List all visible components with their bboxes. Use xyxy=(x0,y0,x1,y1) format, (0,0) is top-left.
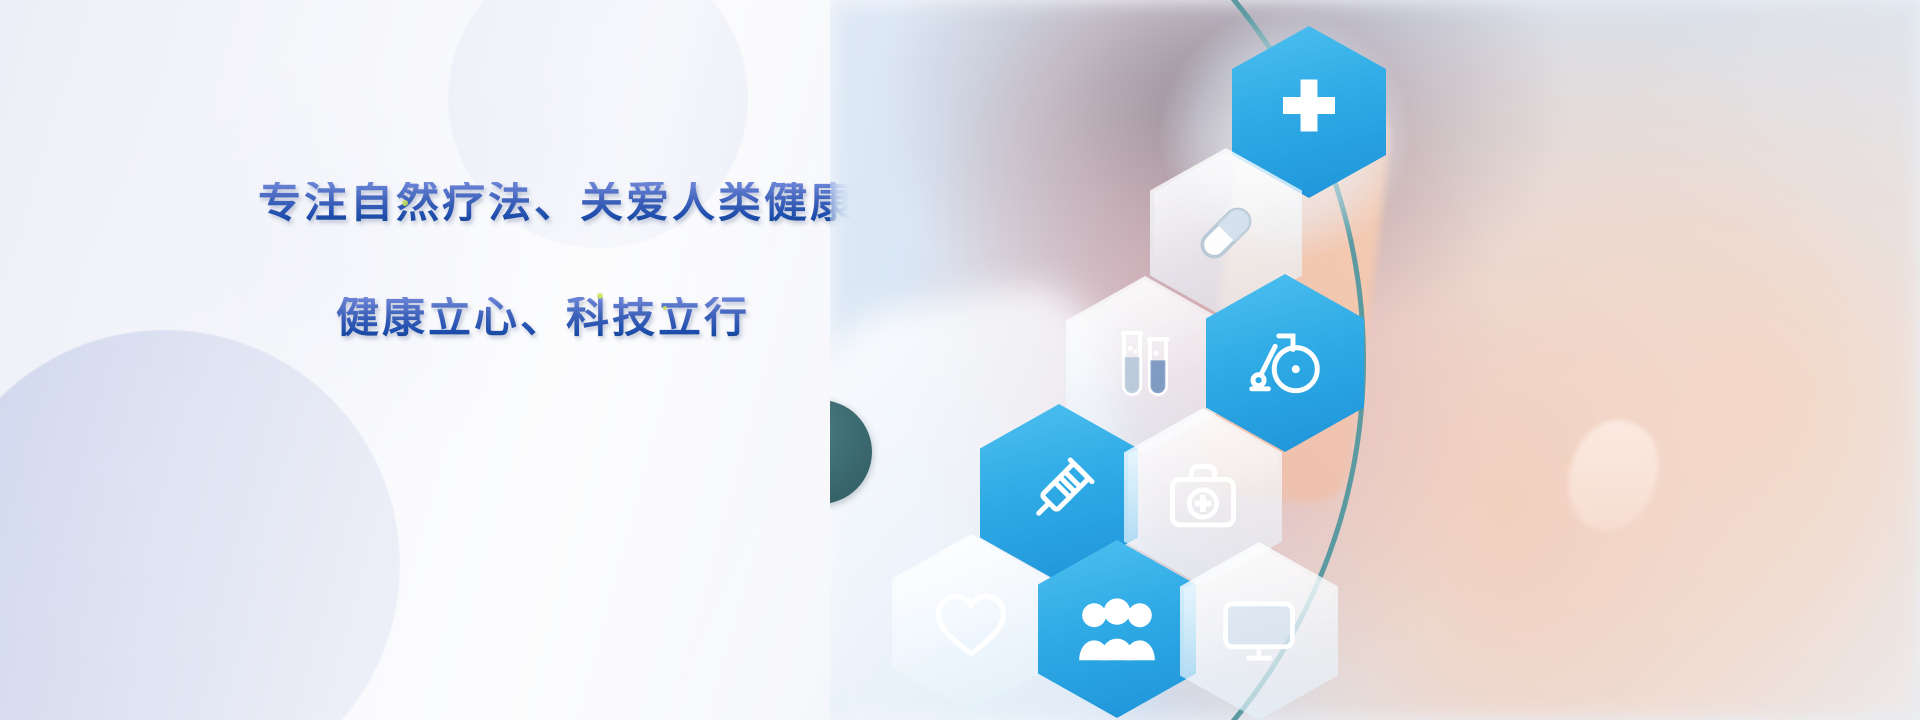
pill-capsule-icon xyxy=(1188,195,1264,271)
syringe-icon xyxy=(1019,453,1099,533)
test-tubes-icon xyxy=(1108,325,1182,405)
medical-hexagon-cluster xyxy=(830,0,1920,720)
headline-line-1: 专注自然疗法、关爱人类健康 xyxy=(258,182,898,225)
sparkle-accent xyxy=(597,293,603,299)
healthcare-hero-banner: 专注自然疗法、关爱人类健康 健康立心、科技立行 xyxy=(0,0,1920,720)
medical-cross-icon xyxy=(1270,73,1348,151)
sparkle-accent xyxy=(402,200,408,206)
family-group-icon xyxy=(1075,593,1159,665)
wheelchair-icon xyxy=(1245,325,1325,401)
monitor-screen-icon xyxy=(1218,595,1300,667)
headline-line-2: 健康立心、科技立行 xyxy=(336,297,898,340)
sparkle-accent xyxy=(663,306,667,310)
headline-block: 专注自然疗法、关爱人类健康 健康立心、科技立行 xyxy=(258,182,898,340)
hero-photo-panel xyxy=(830,0,1920,720)
heart-icon xyxy=(932,586,1010,660)
medical-bag-icon xyxy=(1163,458,1243,536)
